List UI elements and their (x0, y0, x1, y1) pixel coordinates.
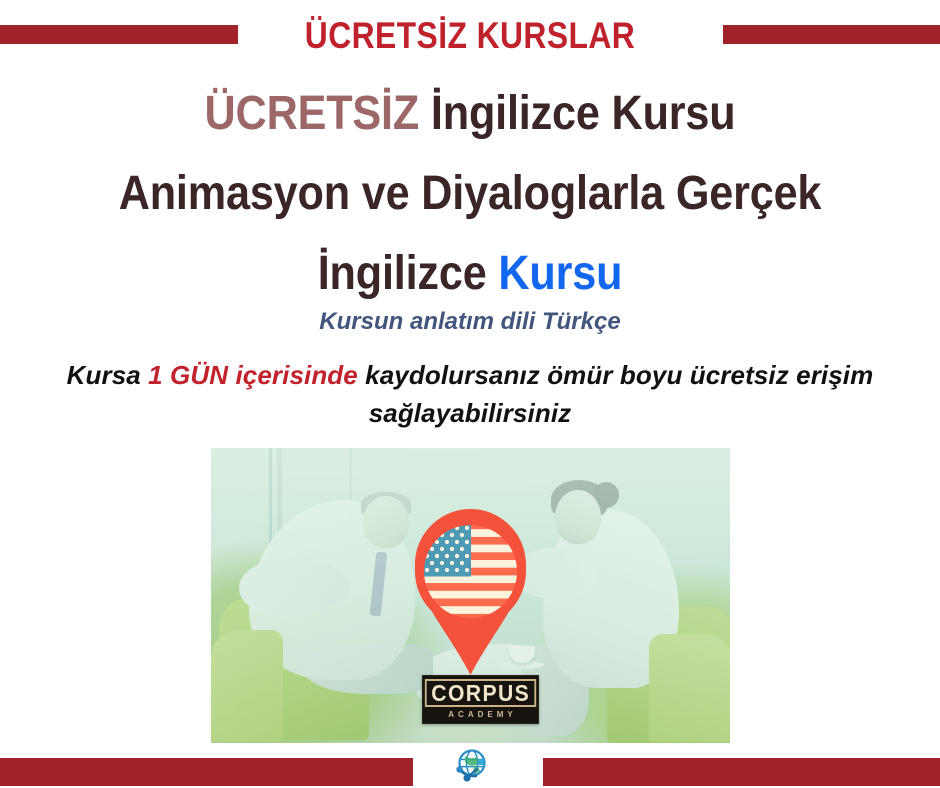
headline-line-3-blue: Kursu (498, 247, 622, 300)
course-photo: CORPUS ACADEMY (211, 448, 730, 743)
headline-line-1: ÜCRETSİZ İngilizce Kursu (56, 74, 884, 154)
headline-line-3-dark: İngilizce (318, 247, 499, 300)
chair-right-armrest (649, 634, 730, 742)
chair-left-armrest (211, 630, 283, 742)
subtitle: Kursun anlatım dili Türkçe (0, 307, 940, 337)
us-flag-pin-icon (404, 505, 537, 679)
headline-line-3: İngilizce Kursu (56, 234, 884, 314)
promo-part-2: kaydolursanız ömür boyu ücretsiz erişim … (358, 360, 873, 428)
globe-logo-icon (448, 744, 492, 788)
bottom-rule-right (543, 758, 940, 786)
corpus-logo-text: CORPUS (425, 679, 537, 707)
page-title: ÜCRETSİZ İngilizce Kursu Animasyon ve Di… (10, 74, 930, 314)
bottom-rule-left (0, 758, 413, 786)
woman-head (555, 490, 601, 544)
promo-paragraph: Kursa 1 GÜN içerisinde kaydolursanız ömü… (8, 356, 932, 432)
man-head (363, 496, 409, 548)
headline-line-1-rest: İngilizce Kursu (419, 87, 735, 140)
top-banner: ÜCRETSİZ KURSLAR (0, 0, 940, 70)
promo-highlight: 1 GÜN içerisinde (148, 360, 358, 390)
headline-free-word: ÜCRETSİZ (205, 87, 420, 140)
corpus-academy-logo: CORPUS ACADEMY (422, 675, 539, 724)
promo-part-1: Kursa (67, 360, 149, 390)
headline-line-2: Animasyon ve Diyaloglarla Gerçek (56, 154, 884, 234)
kicker-text: ÜCRETSİZ KURSLAR (66, 16, 874, 56)
academy-logo-text: ACADEMY (444, 709, 516, 721)
